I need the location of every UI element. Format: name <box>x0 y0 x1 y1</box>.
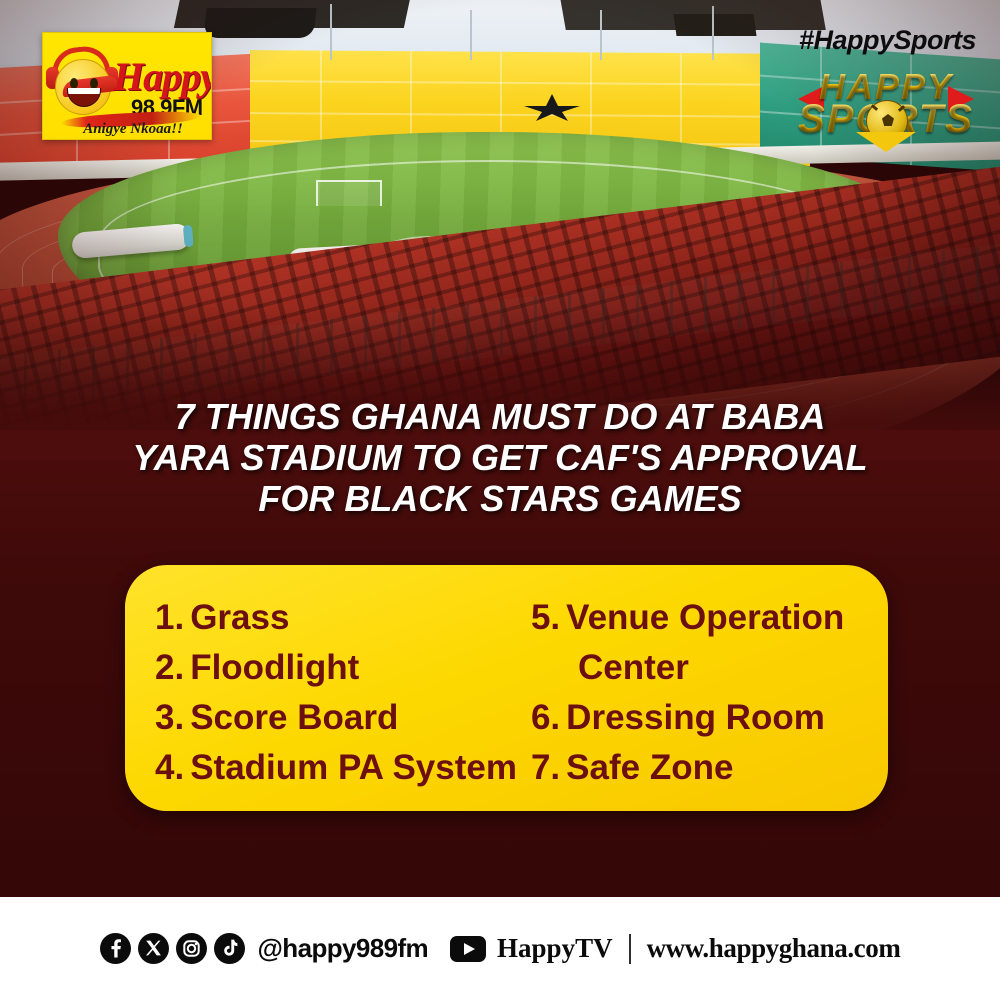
smiley-face-icon <box>55 59 111 115</box>
list-item-number: 2. <box>155 648 184 687</box>
footer-divider <box>629 934 631 964</box>
list-item: 2.Floodlight <box>155 643 517 693</box>
headline-line-3: FOR BLACK STARS GAMES <box>50 478 950 519</box>
website-url[interactable]: www.happyghana.com <box>647 933 901 964</box>
headline-line-1: 7 THINGS GHANA MUST DO AT BABA <box>50 396 950 437</box>
list-item-label: Grass <box>190 598 289 637</box>
list-item-label: Floodlight <box>190 648 359 687</box>
list-item-number: 4. <box>155 748 184 787</box>
list-item-number: 1. <box>155 598 184 637</box>
logo-station-name: Happy <box>113 57 212 97</box>
list-item-number: 3. <box>155 698 184 737</box>
tiktok-icon[interactable] <box>214 933 245 964</box>
hashtag-label: #HappySports <box>799 25 976 56</box>
list-item-label: Venue Operation <box>566 598 844 637</box>
list-item-number: 6. <box>531 698 560 737</box>
headline: 7 THINGS GHANA MUST DO AT BABA YARA STAD… <box>50 396 950 519</box>
list-item-label: Stadium PA System <box>190 748 517 787</box>
list-column-left: 1.Grass 2.Floodlight 3.Score Board 4.Sta… <box>155 593 517 789</box>
list-item-label: Safe Zone <box>566 748 733 787</box>
x-twitter-icon[interactable] <box>138 933 169 964</box>
list-item: 6.Dressing Room <box>531 693 864 743</box>
list-item: 1.Grass <box>155 593 517 643</box>
list-item: 4.Stadium PA System <box>155 743 517 793</box>
list-item: 3.Score Board <box>155 693 517 743</box>
list-item-number: 5. <box>531 598 560 637</box>
list-item-number: 7. <box>531 748 560 787</box>
logo-tagline: Anigye Nkoaa!! <box>73 121 193 138</box>
happy-sports-logo: HAPPY SPORTS <box>794 66 978 148</box>
list-item-label: Dressing Room <box>566 698 825 737</box>
social-media-poster: Happy 98.9FM Anigye Nkoaa!! #HappySports… <box>0 0 1000 1000</box>
list-item-label: Center <box>578 648 689 687</box>
happy-fm-logo: Happy 98.9FM Anigye Nkoaa!! <box>42 32 212 140</box>
list-item: 7.Safe Zone <box>531 743 864 793</box>
list-item-label: Score Board <box>190 698 398 737</box>
headline-line-2: YARA STADIUM TO GET CAF'S APPROVAL <box>50 437 950 478</box>
youtube-icon[interactable] <box>450 936 486 962</box>
list-item: 5.Venue Operation <box>531 593 864 643</box>
social-icons-row: @happy989fm HappyTV www.happyghana.com <box>100 933 901 964</box>
list-column-right: 5.Venue Operation Center 6.Dressing Room… <box>517 593 864 789</box>
smile-mouth <box>67 88 101 107</box>
logo-chevron-icon <box>856 132 916 152</box>
social-handle[interactable]: @happy989fm <box>258 933 428 964</box>
footer-bar: @happy989fm HappyTV www.happyghana.com <box>0 897 1000 1000</box>
list-item-continuation: Center <box>531 643 864 693</box>
requirements-card: 1.Grass 2.Floodlight 3.Score Board 4.Sta… <box>125 565 888 811</box>
instagram-icon[interactable] <box>176 933 207 964</box>
facebook-icon[interactable] <box>100 933 131 964</box>
tv-channel-label[interactable]: HappyTV <box>497 933 613 964</box>
